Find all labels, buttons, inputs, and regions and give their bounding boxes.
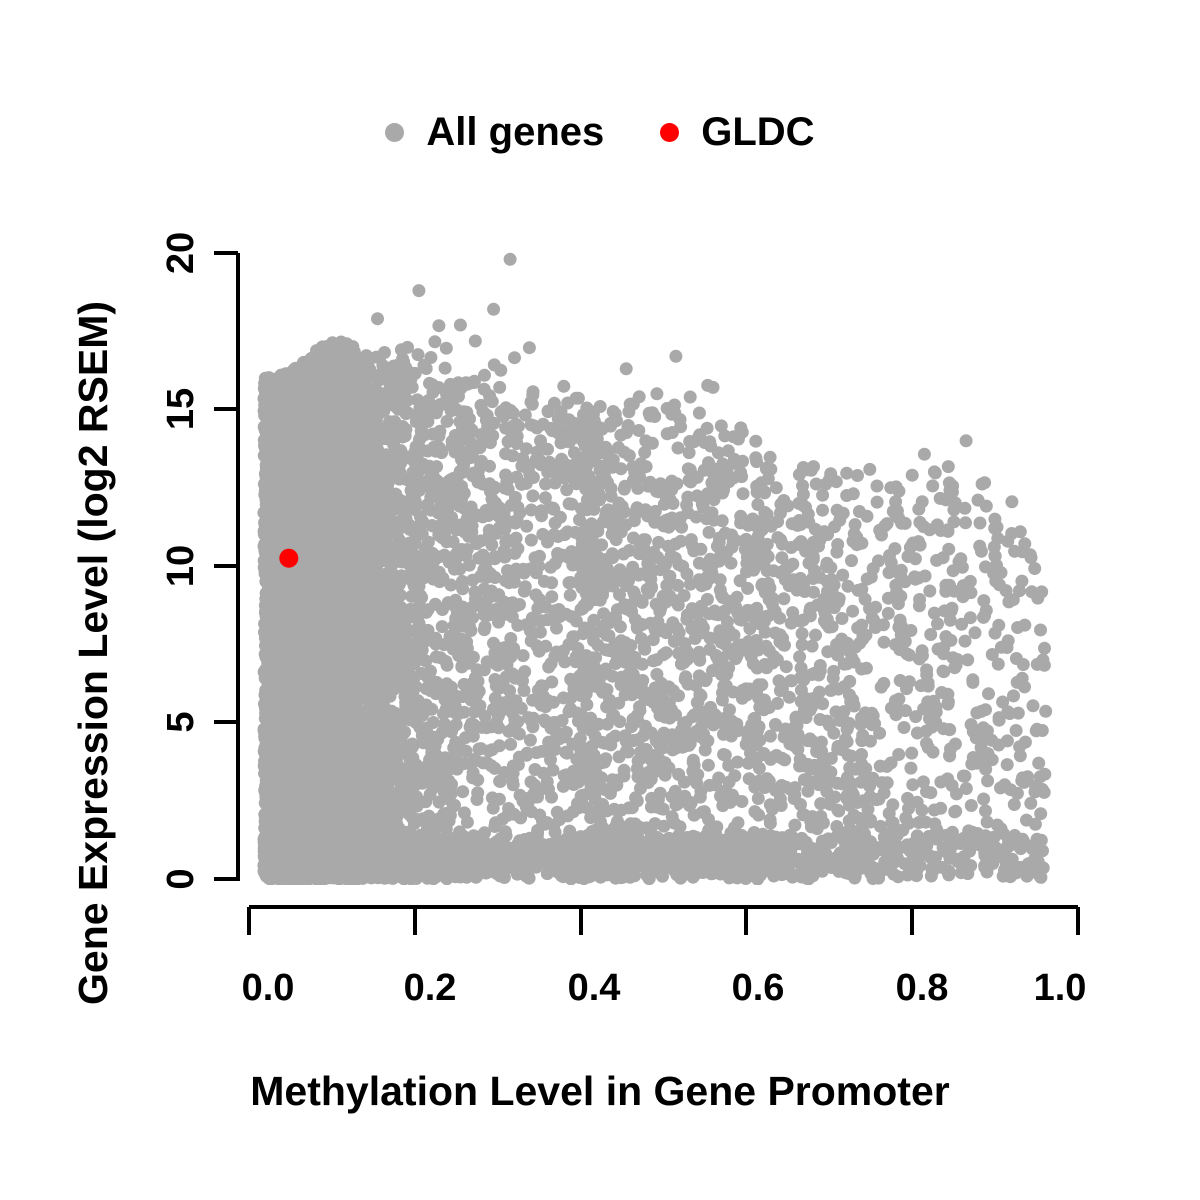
x-tick-label-0-4: 0.4 — [568, 967, 621, 1009]
x-tick-label-0-6: 0.6 — [732, 967, 785, 1009]
x-axis: 0.0 0.2 0.4 0.6 0.8 1.0 — [242, 907, 1087, 1009]
y-axis: 20 15 10 5 0 — [160, 232, 238, 890]
x-tick-label-0-2: 0.2 — [404, 967, 457, 1009]
scatter-plot-figure: All genes GLDC 20 15 10 5 0 — [0, 0, 1200, 1200]
y-axis-title: Gene Expression Level (log2 RSEM) — [62, 0, 124, 1200]
y-tick-label-15: 15 — [160, 388, 202, 430]
x-tick-label-1-0: 1.0 — [1034, 967, 1087, 1009]
y-tick-label-20: 20 — [160, 232, 202, 274]
x-tick-label-0-0: 0.0 — [242, 967, 295, 1009]
data-points-layer — [257, 253, 1052, 886]
y-axis-title-text: Gene Expression Level (log2 RSEM) — [70, 301, 117, 1200]
y-tick-label-10: 10 — [160, 545, 202, 587]
x-tick-label-0-8: 0.8 — [896, 967, 949, 1009]
gldc-highlight-point — [279, 549, 298, 568]
y-tick-label-5: 5 — [160, 711, 202, 732]
plot-canvas: 20 15 10 5 0 0.0 0.2 0.4 0.6 0.8 1.0 — [0, 0, 1200, 1200]
x-axis-title: Methylation Level in Gene Promoter — [0, 1068, 1200, 1115]
y-tick-label-0: 0 — [160, 868, 202, 889]
